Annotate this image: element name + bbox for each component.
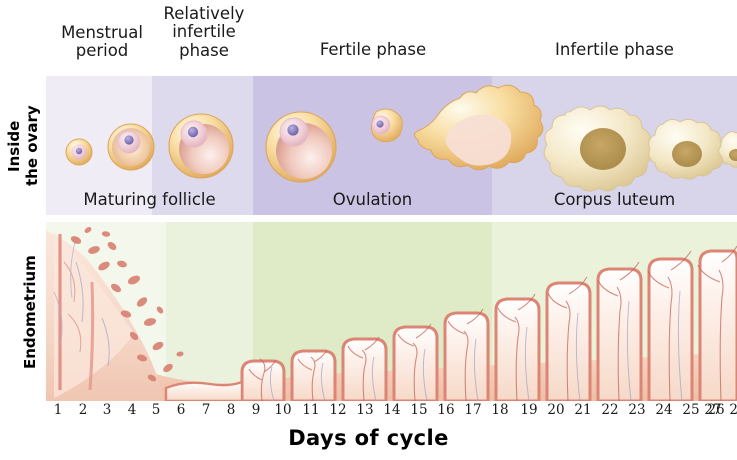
released-oocyte: [371, 109, 402, 142]
side-label-inside-the-ovary-2: the ovary: [24, 82, 41, 210]
day-tick-22: 22: [598, 402, 622, 418]
day-tick-2: 2: [71, 402, 95, 418]
day-tick-8: 8: [219, 402, 243, 418]
day-tick-23: 23: [625, 402, 649, 418]
day-tick-18: 18: [488, 402, 512, 418]
phase-heading-rel-line3: phase: [155, 42, 253, 60]
side-label-endometrium-text: Endometrium: [21, 256, 39, 370]
axis-title: Days of cycle: [0, 426, 737, 450]
ovary-label-maturing-follicle: Maturing follicle: [46, 190, 253, 209]
follicle-large: [169, 114, 233, 178]
day-tick-28: 28: [726, 402, 737, 418]
follicle-medium: [108, 124, 154, 170]
phase-heading-infertile-line1: Infertile phase: [497, 41, 732, 59]
phase-heading-fertile: Fertile phase: [258, 41, 488, 59]
phase-heading-rel-line1: Relatively: [155, 5, 253, 23]
day-tick-17: 17: [461, 402, 485, 418]
day-tick-1: 1: [46, 402, 70, 418]
phase-heading-menstrual: Menstrual period: [52, 24, 152, 61]
endometrium-row: [46, 222, 737, 401]
day-tick-15: 15: [407, 402, 431, 418]
phase-heading-rel-line2: infertile: [155, 23, 253, 41]
ovary-row: Maturing follicle Ovulation Corpus luteu…: [46, 76, 737, 215]
day-tick-5: 5: [144, 402, 168, 418]
phase-heading-infertile: Infertile phase: [497, 41, 732, 59]
corpus-luteum-large: [544, 106, 652, 191]
day-axis: 1 2 3 4 5 6 7 8 9 10 11 12 13 14 15 16 1…: [46, 402, 737, 422]
ovary-label-corpus-luteum: Corpus luteum: [492, 190, 737, 209]
day-tick-25: 25: [679, 402, 703, 418]
day-tick-13: 13: [353, 402, 377, 418]
day-tick-16: 16: [434, 402, 458, 418]
follicle-graafian: [266, 112, 336, 182]
side-label-inside-the-ovary: Inside: [6, 82, 23, 210]
figure-root: Menstrual period Relatively infertile ph…: [0, 0, 737, 460]
phase-heading-fertile-line1: Fertile phase: [258, 41, 488, 59]
ovary-label-ovulation: Ovulation: [253, 190, 492, 209]
day-tick-11: 11: [299, 402, 323, 418]
phase-heading-relatively-infertile: Relatively infertile phase: [155, 5, 253, 60]
ovary-label-maturing-follicle-text: Maturing follicle: [83, 190, 215, 209]
day-tick-4: 4: [120, 402, 144, 418]
follicle-small: [66, 139, 92, 165]
ruptured-follicle: [414, 85, 542, 169]
day-tick-10: 10: [271, 402, 295, 418]
side-label-endometrium: Endometrium: [22, 225, 39, 400]
day-tick-24: 24: [652, 402, 676, 418]
day-tick-3: 3: [95, 402, 119, 418]
phase-heading-menstrual-line1: Menstrual: [52, 24, 152, 42]
ovary-label-ovulation-text: Ovulation: [333, 190, 413, 209]
day-tick-9: 9: [244, 402, 268, 418]
day-tick-7: 7: [194, 402, 218, 418]
day-tick-12: 12: [326, 402, 350, 418]
phase-heading-menstrual-line2: period: [52, 42, 152, 60]
day-tick-27b: 27: [701, 402, 725, 418]
day-tick-14: 14: [380, 402, 404, 418]
side-label-ovary-line2: the ovary: [23, 106, 41, 187]
corpus-luteum-medium: [649, 119, 725, 179]
day-tick-19: 19: [517, 402, 541, 418]
day-tick-20: 20: [544, 402, 568, 418]
day-tick-6: 6: [169, 402, 193, 418]
side-label-ovary-line1: Inside: [5, 120, 23, 171]
day-tick-21: 21: [571, 402, 595, 418]
ovary-label-corpus-luteum-text: Corpus luteum: [554, 190, 675, 209]
endometrium-illustration: [46, 222, 737, 401]
